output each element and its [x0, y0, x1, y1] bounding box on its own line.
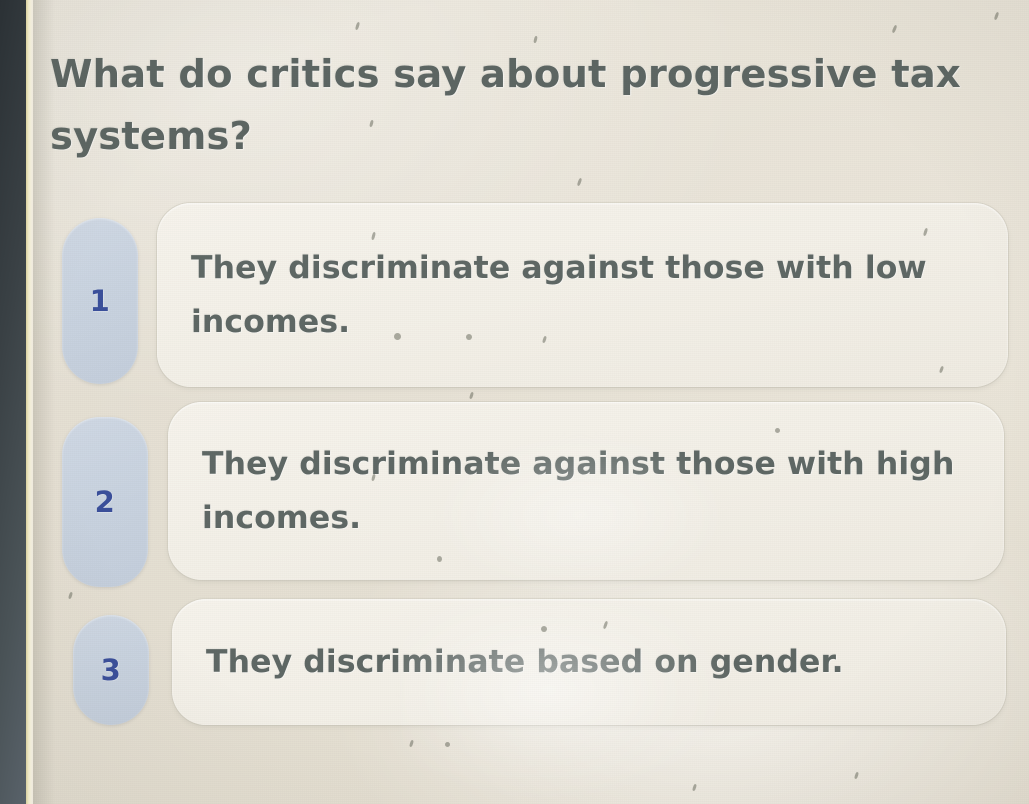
- option-card-2[interactable]: They discriminate against those with hig…: [168, 402, 1004, 580]
- option-number-badge-2[interactable]: 2: [62, 417, 148, 587]
- option-text-2: They discriminate against those with hig…: [168, 437, 1004, 545]
- dust-speck: [692, 784, 697, 792]
- option-card-3[interactable]: They discriminate based on gender.: [172, 599, 1006, 725]
- dust-speck: [445, 742, 450, 747]
- option-text-3: They discriminate based on gender.: [172, 635, 878, 689]
- dust-speck: [854, 772, 859, 780]
- dust-speck: [355, 22, 360, 31]
- dust-speck: [409, 740, 414, 748]
- device-bezel-left: [0, 0, 26, 804]
- option-text-1: They discriminate against those with low…: [157, 241, 1008, 349]
- dust-speck: [469, 392, 474, 400]
- dust-speck: [68, 592, 73, 600]
- option-number-badge-3[interactable]: 3: [73, 615, 149, 725]
- question-text: What do critics say about progressive ta…: [50, 44, 1022, 169]
- photographed-quiz-screen: What do critics say about progressive ta…: [0, 0, 1029, 804]
- option-number-label-2: 2: [95, 485, 116, 519]
- dust-speck: [533, 36, 538, 44]
- option-number-badge-1[interactable]: 1: [62, 218, 138, 384]
- option-number-label-1: 1: [90, 284, 111, 318]
- dust-speck: [577, 178, 583, 187]
- option-number-label-3: 3: [101, 653, 122, 687]
- dust-speck: [892, 25, 898, 34]
- option-card-1[interactable]: They discriminate against those with low…: [157, 203, 1008, 387]
- dust-speck: [994, 12, 1000, 21]
- device-bezel-highlight: [26, 0, 33, 804]
- quiz-content-stage: What do critics say about progressive ta…: [0, 0, 1029, 804]
